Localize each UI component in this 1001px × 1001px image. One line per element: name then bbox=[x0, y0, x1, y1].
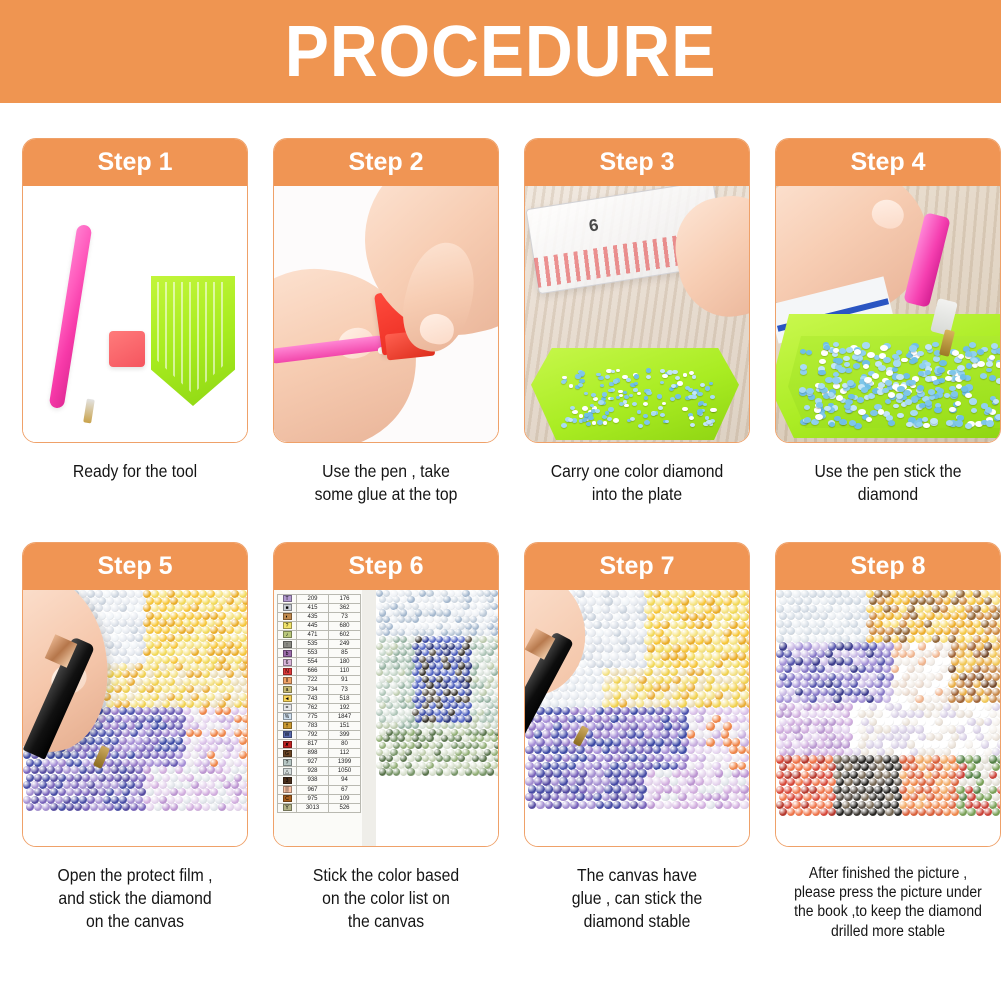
diamond-bead bbox=[814, 407, 821, 412]
step-caption-6: Stick the color based on the color list … bbox=[284, 864, 487, 934]
mosaic-bead bbox=[973, 665, 981, 673]
color-count-cell: 85 bbox=[329, 649, 361, 658]
step-image-1 bbox=[23, 186, 247, 443]
mosaic-bead bbox=[422, 742, 429, 749]
step-cell-7: Step 7 The canvas have glue , can stick … bbox=[524, 542, 750, 942]
diamond-bead bbox=[597, 420, 603, 425]
diamond-bead bbox=[868, 393, 875, 399]
mosaic-bead bbox=[967, 763, 975, 771]
mosaic-bead bbox=[386, 768, 393, 775]
mosaic-bead bbox=[681, 754, 690, 763]
diamond-bead bbox=[896, 374, 903, 380]
mosaic-bead bbox=[570, 801, 579, 810]
diamond-bead bbox=[896, 393, 903, 398]
color-symbol-cell: △ bbox=[278, 767, 297, 776]
mosaic-bead bbox=[619, 668, 628, 677]
mosaic-bead bbox=[866, 665, 874, 673]
diamond-bead bbox=[893, 360, 901, 366]
mosaic-bead bbox=[494, 742, 498, 749]
mosaic-bead bbox=[883, 665, 891, 673]
mosaic-bead bbox=[194, 803, 202, 811]
mosaic-bead bbox=[465, 768, 472, 775]
color-count-cell: 602 bbox=[329, 630, 361, 639]
mosaic-bead bbox=[415, 768, 422, 775]
step-header-label-8: Step 8 bbox=[850, 554, 925, 579]
mosaic-bead bbox=[976, 763, 984, 771]
mosaic-bead bbox=[943, 763, 951, 771]
mosaic-bead bbox=[106, 803, 114, 811]
diamond-bead bbox=[986, 361, 993, 367]
mosaic-bead bbox=[997, 710, 1000, 718]
color-dmc-cell: 967 bbox=[297, 785, 329, 794]
diamond-bead bbox=[870, 410, 878, 416]
mosaic-bead bbox=[932, 665, 940, 673]
color-symbol-cell: 3 bbox=[278, 776, 297, 785]
diamond-bead bbox=[986, 420, 994, 426]
mosaic-bead bbox=[997, 725, 1000, 733]
mosaic-bead bbox=[951, 763, 959, 771]
diamond-bead bbox=[852, 354, 859, 360]
mosaic-bead bbox=[400, 742, 407, 749]
color-count-cell: 526 bbox=[329, 803, 361, 812]
step-card-2[interactable]: Step 2 bbox=[273, 138, 499, 443]
color-count-cell: 176 bbox=[329, 594, 361, 603]
color-dmc-cell: 783 bbox=[297, 721, 329, 730]
mosaic-bead bbox=[869, 763, 877, 771]
diamond-bead bbox=[633, 388, 638, 392]
color-swatch-icon: Y bbox=[283, 804, 292, 811]
mosaic-bead bbox=[951, 808, 959, 816]
mosaic-bead bbox=[902, 763, 910, 771]
color-count-cell: 680 bbox=[329, 621, 361, 630]
mosaic-bead bbox=[992, 808, 1000, 816]
mosaic-bead bbox=[31, 766, 39, 774]
color-list-row: ?445680 bbox=[278, 621, 361, 630]
diamond-bead bbox=[980, 373, 987, 379]
mosaic-bead bbox=[66, 803, 74, 811]
scene-color-list: T209176■415362◐43573?445680♪471602↑53524… bbox=[274, 590, 498, 847]
color-swatch-icon: † bbox=[283, 722, 292, 729]
mosaic-bead bbox=[436, 742, 443, 749]
mosaic-bead bbox=[698, 754, 707, 763]
color-symbol-cell: ◐ bbox=[278, 612, 297, 621]
color-count-cell: 112 bbox=[329, 749, 361, 758]
mosaic-bead bbox=[997, 680, 1000, 688]
diamond-bead bbox=[832, 377, 840, 383]
color-swatch-icon: ✘ bbox=[283, 741, 292, 748]
color-dmc-cell: 535 bbox=[297, 640, 329, 649]
mosaic-bead bbox=[779, 808, 787, 816]
color-count-cell: 1399 bbox=[329, 758, 361, 767]
steps-row-top: Step 1 Ready for the tool Step bbox=[22, 138, 979, 507]
mosaic-bead bbox=[587, 801, 596, 810]
mosaic-bead bbox=[111, 766, 119, 774]
mosaic-bead bbox=[422, 689, 429, 696]
color-swatch-icon: △ bbox=[283, 768, 292, 775]
mosaic-bead bbox=[910, 808, 918, 816]
mosaic-bead bbox=[976, 808, 984, 816]
diamond-bead bbox=[689, 416, 694, 420]
mosaic-bead bbox=[602, 668, 611, 677]
mosaic-bead bbox=[877, 763, 885, 771]
mosaic-bead bbox=[899, 665, 907, 673]
color-list-row: △9281050 bbox=[278, 767, 361, 776]
mosaic-bead bbox=[940, 665, 948, 673]
mosaic-bead bbox=[170, 803, 178, 811]
caption-line: the canvas bbox=[284, 910, 487, 933]
sheet-shadow bbox=[362, 590, 376, 847]
step-header-label-3: Step 3 bbox=[599, 150, 674, 175]
step-header-label-4: Step 4 bbox=[850, 150, 925, 175]
diamond-bead bbox=[847, 380, 854, 385]
step-image-3: 6 bbox=[525, 186, 749, 443]
mosaic-bead bbox=[627, 668, 636, 677]
mosaic-bead bbox=[63, 766, 71, 774]
caption-line: into the plate bbox=[535, 483, 738, 506]
color-dmc-cell: 938 bbox=[297, 776, 329, 785]
mosaic-bead bbox=[779, 763, 787, 771]
mosaic-bead bbox=[585, 668, 594, 677]
step-card-5[interactable]: Step 5 bbox=[22, 542, 248, 847]
mosaic-bead bbox=[39, 766, 47, 774]
mosaic-bead bbox=[610, 668, 619, 677]
diamond-bead bbox=[946, 420, 953, 426]
mosaic-bead bbox=[26, 803, 34, 811]
color-dmc-cell: 734 bbox=[297, 685, 329, 694]
step-image-7 bbox=[525, 590, 749, 847]
mosaic-bead bbox=[915, 680, 923, 688]
color-count-cell: 80 bbox=[329, 740, 361, 749]
step-card-4[interactable]: Step 4 bbox=[775, 138, 1001, 443]
color-count-cell: 1050 bbox=[329, 767, 361, 776]
mosaic-bead bbox=[792, 680, 800, 688]
diamond-bead bbox=[965, 393, 971, 398]
diamond-bead bbox=[901, 358, 907, 363]
mosaic-bead bbox=[844, 763, 852, 771]
mosaic-bead bbox=[672, 801, 681, 810]
mosaic-bead bbox=[723, 801, 732, 810]
color-dmc-cell: 666 bbox=[297, 667, 329, 676]
color-swatch-icon: C bbox=[283, 795, 292, 802]
step-cell-4: Step 4 bbox=[775, 138, 1001, 507]
mosaic-bead bbox=[653, 668, 662, 677]
diamond-bead bbox=[939, 378, 945, 383]
diamond-bead bbox=[960, 374, 967, 379]
color-swatch-icon: ▒ bbox=[283, 786, 292, 793]
diamond-bead bbox=[829, 422, 835, 427]
mosaic-bead bbox=[422, 636, 429, 643]
mosaic-bead bbox=[926, 808, 934, 816]
mosaic-bead bbox=[885, 808, 893, 816]
mosaic-bead bbox=[809, 665, 817, 673]
mosaic-bead bbox=[122, 803, 130, 811]
mosaic-bead bbox=[239, 766, 247, 774]
mosaic-bead bbox=[528, 754, 537, 763]
mosaic-bead bbox=[613, 754, 622, 763]
mosaic-bead bbox=[836, 763, 844, 771]
mosaic-bead bbox=[151, 766, 159, 774]
diamond-bead bbox=[818, 370, 825, 376]
mosaic-bead bbox=[828, 808, 836, 816]
mosaic-bead bbox=[698, 801, 707, 810]
mosaic-bead bbox=[223, 766, 231, 774]
mosaic-bead bbox=[630, 801, 639, 810]
mosaic-bead bbox=[465, 742, 472, 749]
mosaic-bead bbox=[487, 636, 494, 643]
mosaic-bead bbox=[638, 754, 647, 763]
step-cell-6: Step 6 T209176■415362◐43573?445680♪47160… bbox=[273, 542, 499, 942]
color-symbol-cell: % bbox=[278, 712, 297, 721]
color-symbol-cell: ♪ bbox=[278, 630, 297, 639]
mosaic-bead bbox=[638, 801, 647, 810]
color-swatch-icon: ◄ bbox=[283, 695, 292, 702]
mosaic-canvas bbox=[776, 590, 1000, 847]
diamond-bead bbox=[977, 349, 984, 355]
mosaic-bead bbox=[138, 803, 146, 811]
mosaic-bead bbox=[655, 801, 664, 810]
color-list-table: T209176■415362◐43573?445680♪471602↑53524… bbox=[277, 594, 361, 813]
mosaic-bead bbox=[706, 801, 715, 810]
color-count-cell: 73 bbox=[329, 685, 361, 694]
mosaic-bead bbox=[472, 768, 479, 775]
diamond-bead bbox=[821, 350, 827, 355]
diamond-bead bbox=[677, 381, 683, 386]
mosaic-bead bbox=[828, 763, 836, 771]
color-dmc-cell: 762 bbox=[297, 703, 329, 712]
mosaic-bead bbox=[664, 801, 673, 810]
mosaic-bead bbox=[681, 801, 690, 810]
mosaic-bead bbox=[858, 665, 866, 673]
mosaic-bead bbox=[850, 665, 858, 673]
mosaic-bead bbox=[670, 668, 679, 677]
step-card-3[interactable]: Step 3 6 bbox=[524, 138, 750, 443]
mosaic-bead bbox=[869, 808, 877, 816]
mosaic-bead bbox=[87, 766, 95, 774]
mosaic-bead bbox=[621, 754, 630, 763]
color-swatch-icon: T bbox=[283, 595, 292, 602]
mosaic-bead bbox=[732, 754, 741, 763]
diamond-bead bbox=[613, 418, 619, 423]
diamond-bead bbox=[867, 352, 875, 358]
mosaic-bead bbox=[162, 803, 170, 811]
scene-glue-pen bbox=[274, 186, 498, 443]
caption-line: on the color list on bbox=[284, 887, 487, 910]
step-header-label-1: Step 1 bbox=[97, 150, 172, 175]
color-count-cell: 94 bbox=[329, 776, 361, 785]
diamond-bead bbox=[646, 368, 652, 373]
color-list-row: Y3013526 bbox=[278, 803, 361, 812]
diamond-bead bbox=[835, 358, 842, 364]
color-swatch-icon: 6 bbox=[283, 659, 292, 666]
step-header-label-5: Step 5 bbox=[97, 554, 172, 579]
color-dmc-cell: 775 bbox=[297, 712, 329, 721]
diamond-bead bbox=[598, 400, 604, 405]
color-list-row: a73473 bbox=[278, 685, 361, 694]
mosaic-bead bbox=[687, 668, 696, 677]
diamond-bead bbox=[578, 383, 583, 387]
mosaic-bead bbox=[386, 689, 393, 696]
color-list-row: N666110 bbox=[278, 667, 361, 676]
diamond-bead bbox=[697, 392, 702, 396]
caption-line: please press the picture under bbox=[786, 883, 989, 902]
mosaic-bead bbox=[644, 668, 653, 677]
step-card-1[interactable]: Step 1 bbox=[22, 138, 248, 443]
diamond-bead bbox=[682, 407, 687, 411]
mosaic-bead bbox=[729, 668, 738, 677]
diamond-bead bbox=[929, 395, 935, 400]
pink-pen-icon bbox=[49, 224, 93, 409]
step-card-6[interactable]: Step 6 T209176■415362◐43573?445680♪47160… bbox=[273, 542, 499, 847]
color-symbol-cell: ↑ bbox=[278, 640, 297, 649]
mosaic-bead bbox=[98, 803, 106, 811]
mosaic-bead bbox=[636, 668, 645, 677]
mosaic-bead bbox=[604, 754, 613, 763]
mosaic-bead bbox=[393, 768, 400, 775]
step-image-5 bbox=[23, 590, 247, 847]
mosaic-bead bbox=[959, 763, 967, 771]
color-list-row: =762192 bbox=[278, 703, 361, 712]
mosaic-bead bbox=[795, 808, 803, 816]
step-header-8: Step 8 bbox=[776, 543, 1000, 590]
mosaic-bead bbox=[874, 665, 882, 673]
mosaic-bead bbox=[943, 808, 951, 816]
mosaic-bead bbox=[997, 695, 1000, 703]
mosaic-bead bbox=[732, 801, 741, 810]
mosaic-bead bbox=[997, 665, 1000, 673]
mosaic-bead bbox=[90, 803, 98, 811]
color-list-row: b55385 bbox=[278, 649, 361, 658]
diamond-bead bbox=[995, 414, 1000, 420]
mosaic-bead bbox=[918, 808, 926, 816]
diamond-bead bbox=[593, 397, 599, 401]
color-symbol-cell: ■ bbox=[278, 603, 297, 612]
color-dmc-cell: 927 bbox=[297, 758, 329, 767]
mosaic-bead bbox=[386, 636, 393, 643]
mosaic-bead bbox=[487, 768, 494, 775]
step-cell-1: Step 1 Ready for the tool bbox=[22, 138, 248, 507]
mosaic-bead bbox=[984, 808, 992, 816]
mosaic-bead bbox=[175, 766, 183, 774]
color-symbol-cell: 6 bbox=[278, 658, 297, 667]
diamond-bead bbox=[672, 370, 677, 374]
diamond-bead bbox=[996, 348, 1000, 354]
color-swatch-icon: N bbox=[283, 668, 292, 675]
color-dmc-cell: 817 bbox=[297, 740, 329, 749]
diamond-bead bbox=[575, 374, 580, 378]
caption-line: The canvas have bbox=[535, 864, 738, 887]
diamond-bead bbox=[996, 362, 1000, 367]
mosaic-bead bbox=[894, 808, 902, 816]
color-list-row: C975109 bbox=[278, 794, 361, 803]
mosaic-bead bbox=[787, 808, 795, 816]
diamond-bead bbox=[917, 385, 924, 391]
color-symbol-cell: ◄ bbox=[278, 694, 297, 703]
mosaic-grid bbox=[376, 590, 498, 847]
mosaic-bead bbox=[191, 766, 199, 774]
color-dmc-cell: 554 bbox=[297, 658, 329, 667]
mosaic-bead bbox=[458, 636, 465, 643]
diamond-bead bbox=[697, 412, 701, 415]
diamond-bead bbox=[925, 400, 932, 406]
color-dmc-cell: 975 bbox=[297, 794, 329, 803]
diamond-bead bbox=[619, 402, 624, 406]
mosaic-bead bbox=[695, 668, 704, 677]
color-symbol-cell: b bbox=[278, 649, 297, 658]
mosaic-bead bbox=[721, 668, 730, 677]
diamond-bead bbox=[955, 401, 961, 406]
mosaic-bead bbox=[451, 768, 458, 775]
mosaic-bead bbox=[167, 766, 175, 774]
diamond-bead bbox=[923, 423, 929, 428]
mosaic-bead bbox=[948, 665, 956, 673]
diamond-bead bbox=[818, 383, 825, 389]
mosaic-bead bbox=[183, 766, 191, 774]
color-list-row: W792399 bbox=[278, 730, 361, 739]
diamond-bead bbox=[688, 388, 693, 392]
color-count-cell: 362 bbox=[329, 603, 361, 612]
mosaic-bead bbox=[487, 689, 494, 696]
mosaic-bead bbox=[621, 801, 630, 810]
page-banner: PROCEDURE bbox=[0, 0, 1001, 103]
color-dmc-cell: 898 bbox=[297, 749, 329, 758]
color-list-row: ‖72291 bbox=[278, 676, 361, 685]
color-dmc-cell: 3013 bbox=[297, 803, 329, 812]
diamond-bead bbox=[949, 407, 955, 412]
color-swatch-icon: ■ bbox=[283, 604, 292, 611]
diamond-bead bbox=[961, 386, 968, 391]
mosaic-bead bbox=[874, 680, 882, 688]
diamond-bead bbox=[675, 394, 681, 399]
mosaic-bead bbox=[587, 754, 596, 763]
caption-line: Carry one color diamond bbox=[535, 460, 738, 483]
color-symbol-cell: Y bbox=[278, 803, 297, 812]
color-count-cell: 518 bbox=[329, 694, 361, 703]
mosaic-bead bbox=[877, 808, 885, 816]
mosaic-bead bbox=[746, 668, 749, 677]
color-dmc-cell: 209 bbox=[297, 594, 329, 603]
mosaic-bead bbox=[50, 803, 58, 811]
pen-tip-icon bbox=[83, 399, 95, 424]
step-card-8[interactable]: Step 8 bbox=[775, 542, 1001, 847]
diamond-bead bbox=[989, 355, 995, 360]
mosaic-bead bbox=[655, 754, 664, 763]
mosaic-bead bbox=[443, 742, 450, 749]
mosaic-bead bbox=[853, 808, 861, 816]
step-cell-5: Step 5 Open the protect film , and stick… bbox=[22, 542, 248, 942]
mosaic-bead bbox=[79, 766, 87, 774]
caption-line: on the canvas bbox=[33, 910, 236, 933]
mosaic-bead bbox=[712, 668, 721, 677]
color-symbol-cell: ✘ bbox=[278, 740, 297, 749]
caption-line: glue , can stick the bbox=[535, 887, 738, 910]
diamond-bead bbox=[806, 388, 813, 394]
step-card-7[interactable]: Step 7 bbox=[524, 542, 750, 847]
color-symbol-cell: N bbox=[278, 667, 297, 676]
mosaic-bead bbox=[689, 801, 698, 810]
color-swatch-icon: ↑ bbox=[283, 641, 292, 648]
caption-line: the book ,to keep the diamond bbox=[786, 902, 989, 921]
step-image-8 bbox=[776, 590, 1000, 847]
diamond-bead bbox=[651, 412, 656, 416]
mosaic-bead bbox=[723, 754, 732, 763]
color-dmc-cell: 445 bbox=[297, 621, 329, 630]
diamond-bead bbox=[934, 407, 941, 413]
mosaic-bead bbox=[647, 801, 656, 810]
mosaic-bead bbox=[47, 766, 55, 774]
color-list-row: %7751847 bbox=[278, 712, 361, 721]
diamond-bead bbox=[928, 389, 935, 394]
mosaic-bead bbox=[891, 665, 899, 673]
